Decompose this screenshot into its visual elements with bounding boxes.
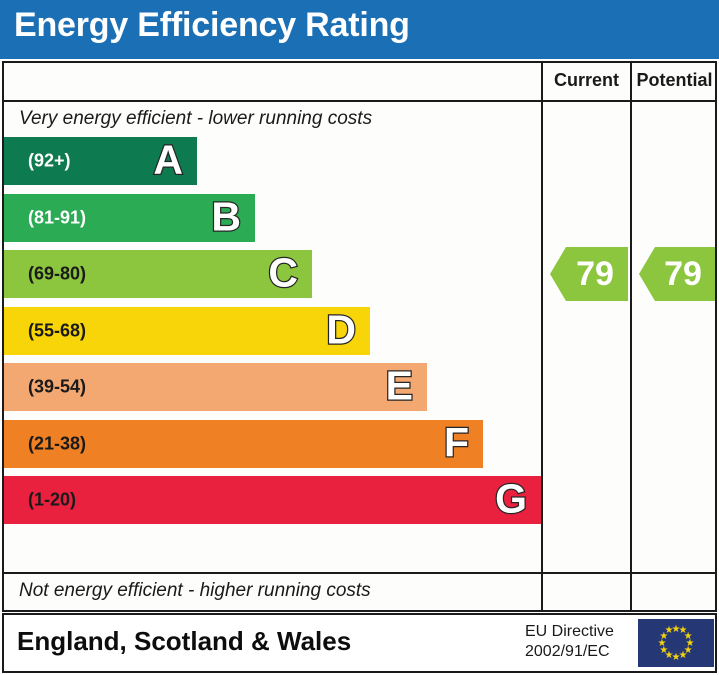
header-banner: Energy Efficiency Rating — [0, 0, 719, 59]
rating-band-a: (92+)A — [4, 137, 197, 185]
band-letter-f: F — [444, 422, 469, 463]
rating-band-c: (69-80)C — [4, 250, 312, 298]
current-rating-badge: 79 — [550, 247, 628, 301]
rating-band-e: (39-54)E — [4, 363, 427, 411]
eu-directive-line2: 2002/91/EC — [525, 642, 614, 662]
band-range-label: (69-80) — [28, 264, 86, 285]
column-header-potential: Potential — [632, 70, 717, 91]
header-divider — [4, 100, 715, 102]
band-letter-b: B — [211, 196, 241, 237]
band-letter-e: E — [386, 366, 413, 407]
footer-divider — [4, 572, 715, 574]
rating-band-d: (55-68)D — [4, 307, 370, 355]
band-range-label: (21-38) — [28, 433, 86, 454]
caption-efficient: Very energy efficient - lower running co… — [19, 108, 372, 130]
rating-band-g: (1-20)G — [4, 476, 541, 524]
caption-inefficient: Not energy efficient - higher running co… — [19, 580, 371, 602]
rating-band-b: (81-91)B — [4, 194, 255, 242]
page-title: Energy Efficiency Rating — [14, 6, 410, 45]
band-range-label: (1-20) — [28, 490, 76, 511]
potential-rating-value: 79 — [652, 257, 702, 291]
band-range-label: (92+) — [28, 151, 71, 172]
rating-band-f: (21-38)F — [4, 420, 483, 468]
footer-bar: England, Scotland & Wales EU Directive 2… — [2, 613, 717, 673]
potential-column-divider — [630, 63, 632, 610]
column-header-current: Current — [543, 70, 630, 91]
band-range-label: (39-54) — [28, 377, 86, 398]
current-column-divider — [541, 63, 543, 610]
current-rating-value: 79 — [564, 257, 614, 291]
eu-star-icon: ★ — [665, 626, 674, 635]
epc-certificate: Energy Efficiency Rating Current Potenti… — [0, 0, 719, 675]
band-letter-a: A — [153, 140, 183, 181]
eu-flag-icon: ★★★★★★★★★★★★ — [638, 619, 714, 667]
band-letter-d: D — [326, 309, 356, 350]
region-label: England, Scotland & Wales — [17, 626, 351, 657]
eu-directive-line1: EU Directive — [525, 622, 614, 642]
band-list: (92+)A(81-91)B(69-80)C(55-68)D(39-54)E(2… — [4, 137, 541, 567]
potential-rating-badge: 79 — [639, 247, 715, 301]
eu-directive-text: EU Directive 2002/91/EC — [525, 622, 614, 662]
band-range-label: (55-68) — [28, 320, 86, 341]
band-range-label: (81-91) — [28, 207, 86, 228]
band-letter-c: C — [268, 253, 298, 294]
rating-table: Current Potential Very energy efficient … — [2, 61, 717, 612]
band-letter-g: G — [495, 479, 527, 520]
